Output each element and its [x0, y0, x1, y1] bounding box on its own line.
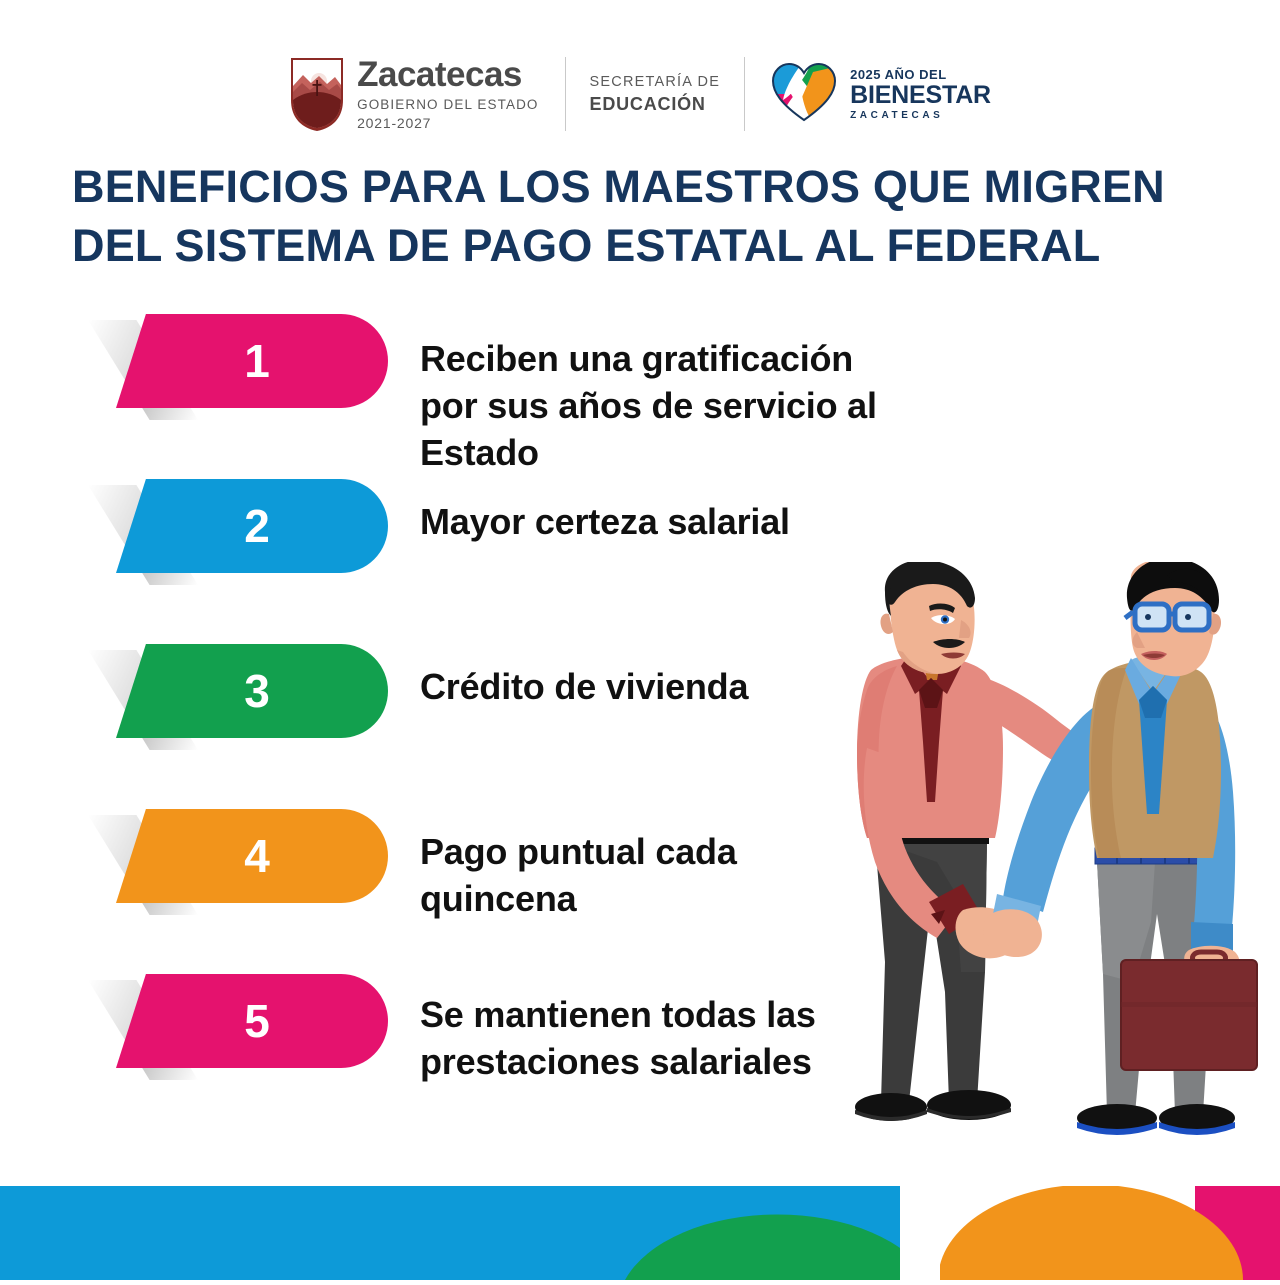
bienestar-heart-icon [769, 60, 839, 129]
benefit-text: Pago puntual cada quincena [420, 829, 900, 923]
secretariat-logo: SECRETARÍA DE EDUCACIÓN [566, 74, 745, 115]
page-title-line2: DEL SISTEMA DE PAGO ESTATAL AL FEDERAL [72, 217, 1212, 276]
badge-banner: 1 [116, 314, 388, 408]
benefit-text: Reciben una gratificación por sus años d… [420, 336, 900, 476]
bottom-decorative-band [0, 1186, 1280, 1280]
benefit-badge-1: 1 [88, 314, 388, 414]
list-item: 1 Reciben una gratificación por sus años… [0, 314, 1280, 479]
bienestar-line3: ZACATECAS [850, 110, 991, 121]
badge-banner: 3 [116, 644, 388, 738]
bienestar-logo: 2025 AÑO DEL BIENESTAR ZACATECAS [745, 60, 991, 129]
benefit-text: Se mantienen todas las prestaciones sala… [420, 992, 900, 1086]
zacatecas-period: 2021-2027 [357, 115, 538, 131]
secretariat-line2: EDUCACIÓN [590, 94, 721, 115]
badge-banner: 2 [116, 479, 388, 573]
benefit-badge-5: 5 [88, 974, 388, 1074]
bienestar-line2: BIENESTAR [850, 83, 991, 108]
zacatecas-subtitle: GOBIERNO DEL ESTADO [357, 97, 538, 112]
benefit-badge-3: 3 [88, 644, 388, 744]
benefit-text: Mayor certeza salarial [420, 499, 900, 546]
benefit-badge-2: 2 [88, 479, 388, 579]
two-businessmen-handshake-illustration [845, 562, 1265, 1162]
page-title: BENEFICIOS PARA LOS MAESTROS QUE MIGREN … [72, 158, 1212, 275]
badge-number: 2 [244, 503, 270, 549]
zacatecas-government-logo: Zacatecas GOBIERNO DEL ESTADO 2021-2027 [289, 56, 564, 132]
badge-number: 5 [244, 998, 270, 1044]
badge-number: 3 [244, 668, 270, 714]
badge-number: 1 [244, 338, 270, 384]
benefit-text: Crédito de vivienda [420, 664, 900, 711]
zacatecas-shield-icon [289, 56, 345, 132]
badge-banner: 4 [116, 809, 388, 903]
badge-banner: 5 [116, 974, 388, 1068]
page-title-line1: BENEFICIOS PARA LOS MAESTROS QUE MIGREN [72, 158, 1212, 217]
secretariat-line1: SECRETARÍA DE [590, 74, 721, 90]
badge-number: 4 [244, 833, 270, 879]
benefit-badge-4: 4 [88, 809, 388, 909]
zacatecas-name: Zacatecas [357, 57, 538, 92]
bienestar-line1: 2025 AÑO DEL [850, 67, 991, 82]
header-logos: Zacatecas GOBIERNO DEL ESTADO 2021-2027 … [0, 46, 1280, 142]
